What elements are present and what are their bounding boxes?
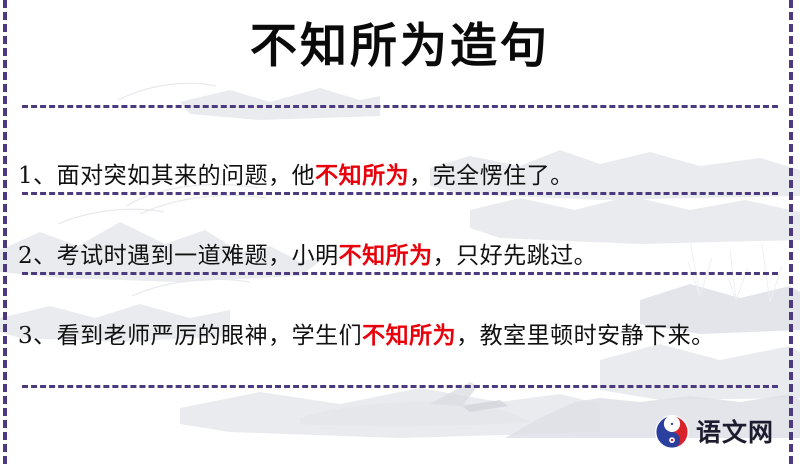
site-logo[interactable]: 语文网 <box>654 414 774 450</box>
divider-1 <box>22 192 778 195</box>
example-sentence-3: 3、看到老师严厉的眼神，学生们不知所为，教室里顿时安静下来。 <box>18 315 786 357</box>
example-sentence-1: 1、面对突如其来的问题，他不知所为，完全愣住了。 <box>18 155 786 197</box>
divider-bottom <box>22 385 778 388</box>
sentence-text-after-1: ，完全愣住了。 <box>409 163 574 189</box>
example-sentence-2: 2、考试时遇到一道难题，小明不知所为，只好先跳过。 <box>18 235 786 277</box>
left-dashed-border <box>3 0 7 464</box>
right-dashed-border <box>789 0 793 464</box>
sentence-text-before-3: 看到老师严厉的眼神，学生们 <box>57 323 363 349</box>
sentence-text-after-3: ，教室里顿时安静下来。 <box>456 323 715 349</box>
keyword-highlight-1: 不知所为 <box>315 162 409 189</box>
sentence-text-before-1: 面对突如其来的问题，他 <box>57 163 316 189</box>
sentence-text-after-2: ，只好先跳过。 <box>433 243 598 269</box>
sentence-number-2: 2、 <box>18 243 57 269</box>
sentence-text-before-2: 考试时遇到一道难题，小明 <box>57 243 339 269</box>
yinyang-circle-logo-icon <box>654 414 690 450</box>
page-title: 不知所为造句 <box>0 18 800 77</box>
slide-page: 不知所为造句 1、面对突如其来的问题，他不知所为，完全愣住了。 2、考试时遇到一… <box>0 0 800 464</box>
divider-top <box>22 105 778 108</box>
slide-content: 不知所为造句 1、面对突如其来的问题，他不知所为，完全愣住了。 2、考试时遇到一… <box>0 0 800 464</box>
site-logo-text: 语文网 <box>696 420 774 445</box>
keyword-highlight-2: 不知所为 <box>339 242 433 269</box>
divider-2 <box>22 272 778 275</box>
sentence-number-3: 3、 <box>18 323 57 349</box>
keyword-highlight-3: 不知所为 <box>362 322 456 349</box>
sentence-number-1: 1、 <box>18 163 57 189</box>
